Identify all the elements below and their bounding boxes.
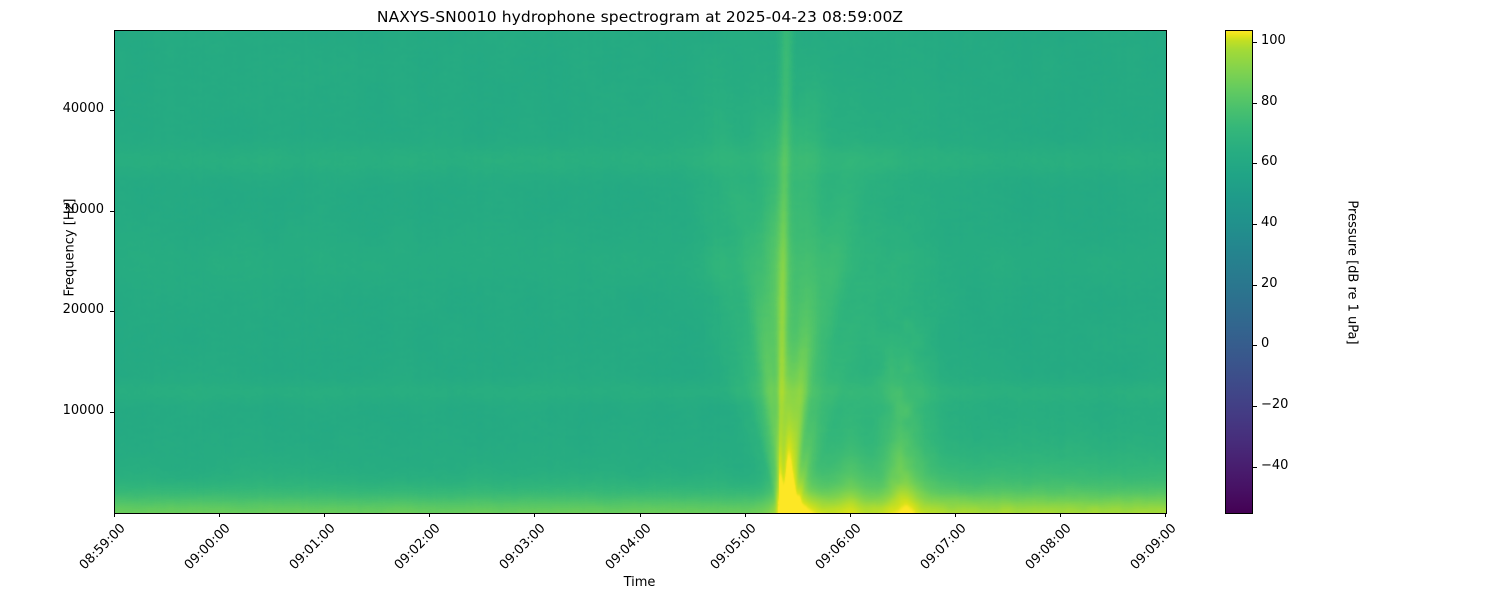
x-tick-mark [324, 513, 325, 517]
x-tick-label: 09:05:00 [699, 521, 759, 581]
plot-area[interactable] [114, 30, 1167, 514]
page-title: NAXYS-SN0010 hydrophone spectrogram at 2… [0, 8, 1280, 26]
x-tick-label: 08:59:00 [69, 521, 129, 581]
colorbar-tick-mark [1253, 103, 1257, 104]
colorbar-tick-mark [1253, 42, 1257, 43]
colorbar-tick-mark [1253, 406, 1257, 407]
x-tick-label: 09:07:00 [909, 521, 969, 581]
colorbar-tick-mark [1253, 467, 1257, 468]
x-tick-label: 09:00:00 [174, 521, 234, 581]
x-tick-mark [955, 513, 956, 517]
x-tick-mark [640, 513, 641, 517]
x-tick-mark [1060, 513, 1061, 517]
y-tick-label: 30000 [48, 202, 104, 217]
x-tick-label: 09:08:00 [1014, 521, 1074, 581]
x-tick-mark [745, 513, 746, 517]
x-tick-mark [1165, 513, 1166, 517]
x-tick-label: 09:09:00 [1120, 521, 1180, 581]
colorbar-tick-label: 100 [1261, 33, 1286, 48]
colorbar [1225, 30, 1253, 514]
y-tick-label: 20000 [48, 302, 104, 317]
colorbar-tick-label: 20 [1261, 276, 1278, 291]
x-tick-label: 09:03:00 [489, 521, 549, 581]
x-tick-label: 09:02:00 [384, 521, 444, 581]
x-tick-label: 09:06:00 [804, 521, 864, 581]
x-tick-label: 09:04:00 [594, 521, 654, 581]
y-axis-label: Frequency [Hz] [63, 148, 78, 348]
y-tick-label: 40000 [48, 101, 104, 116]
colorbar-tick-mark [1253, 163, 1257, 164]
x-tick-mark [219, 513, 220, 517]
x-tick-label: 09:01:00 [279, 521, 339, 581]
colorbar-tick-mark [1253, 285, 1257, 286]
colorbar-tick-label: 40 [1261, 215, 1278, 230]
x-tick-mark [114, 513, 115, 517]
x-tick-mark [429, 513, 430, 517]
y-tick-label: 10000 [48, 403, 104, 418]
colorbar-tick-mark [1253, 224, 1257, 225]
colorbar-tick-mark [1253, 345, 1257, 346]
colorbar-tick-label: 80 [1261, 94, 1278, 109]
colorbar-tick-label: −20 [1261, 397, 1288, 412]
x-tick-mark [850, 513, 851, 517]
spectrogram-figure: NAXYS-SN0010 hydrophone spectrogram at 2… [0, 0, 1500, 600]
spectrogram-image [115, 31, 1166, 513]
colorbar-tick-label: 60 [1261, 154, 1278, 169]
x-tick-mark [534, 513, 535, 517]
colorbar-tick-label: 0 [1261, 336, 1269, 351]
x-axis-label: Time [114, 575, 1165, 590]
colorbar-label: Pressure [dB re 1 uPa] [1345, 143, 1360, 403]
colorbar-tick-label: −40 [1261, 458, 1288, 473]
